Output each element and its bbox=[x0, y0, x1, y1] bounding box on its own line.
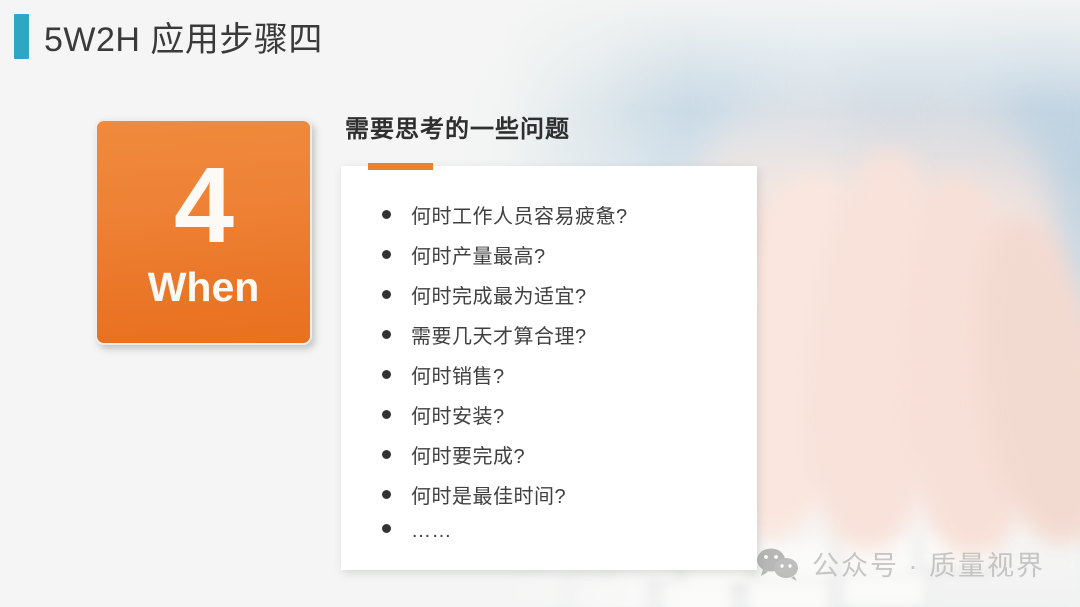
list-item: 何时工作人员容易疲惫? bbox=[341, 200, 757, 240]
question-text: 何时安装? bbox=[411, 400, 505, 429]
question-text: 何时销售? bbox=[411, 360, 505, 389]
question-text: 何时是最佳时间? bbox=[411, 480, 566, 509]
title-accent-bar bbox=[14, 14, 29, 59]
question-list: 何时工作人员容易疲惫? 何时产量最高? 何时完成最为适宜? 需要几天才算合理? … bbox=[341, 166, 757, 560]
slide-canvas: 5W2H 应用步骤四 4 When 需要思考的一些问题 何时工作人员容易疲惫? … bbox=[0, 0, 1080, 607]
list-item: 何时安装? bbox=[341, 400, 757, 440]
list-item: 何时产量最高? bbox=[341, 240, 757, 280]
page-title: 5W2H 应用步骤四 bbox=[44, 12, 323, 61]
bullet-icon bbox=[382, 410, 391, 419]
list-item: 何时要完成? bbox=[341, 440, 757, 480]
bullet-icon bbox=[382, 250, 391, 259]
bullet-icon bbox=[382, 490, 391, 499]
question-text: 何时要完成? bbox=[411, 440, 525, 469]
question-text: 何时工作人员容易疲惫? bbox=[411, 200, 628, 229]
list-item: …… bbox=[341, 520, 757, 560]
list-item: 何时是最佳时间? bbox=[341, 480, 757, 520]
questions-heading: 需要思考的一些问题 bbox=[345, 109, 570, 144]
step-number-card: 4 When bbox=[95, 119, 312, 345]
step-number: 4 bbox=[174, 154, 233, 256]
question-text: 何时完成最为适宜? bbox=[411, 280, 587, 309]
list-item: 需要几天才算合理? bbox=[341, 320, 757, 360]
step-label: When bbox=[148, 267, 260, 308]
panel-accent-bar bbox=[368, 163, 433, 170]
bullet-icon bbox=[382, 290, 391, 299]
list-item: 何时完成最为适宜? bbox=[341, 280, 757, 320]
question-text: 何时产量最高? bbox=[411, 240, 546, 269]
bullet-icon bbox=[382, 210, 391, 219]
bullet-icon bbox=[382, 370, 391, 379]
page-header: 5W2H 应用步骤四 bbox=[0, 0, 323, 72]
watermark-text: 公众号 · 质量视界 bbox=[812, 544, 1045, 583]
questions-panel: 何时工作人员容易疲惫? 何时产量最高? 何时完成最为适宜? 需要几天才算合理? … bbox=[341, 166, 757, 570]
keyboard-key bbox=[748, 581, 828, 607]
question-text: …… bbox=[411, 520, 452, 543]
watermark: 公众号 · 质量视界 bbox=[756, 544, 1045, 583]
bullet-icon bbox=[382, 330, 391, 339]
list-item: 何时销售? bbox=[341, 360, 757, 400]
question-text: 需要几天才算合理? bbox=[411, 320, 587, 349]
bullet-icon bbox=[382, 450, 391, 459]
bullet-icon bbox=[382, 524, 391, 533]
wechat-icon bbox=[756, 547, 800, 581]
